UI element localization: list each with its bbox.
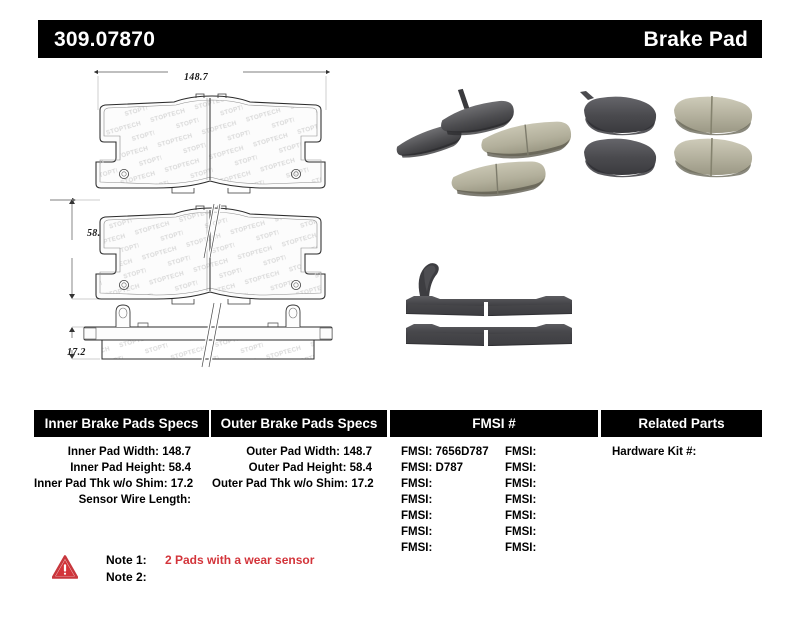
fmsi-row: FMSI: — [393, 524, 497, 540]
brake-pad-set-flat-photo — [578, 90, 758, 190]
fmsi-row: FMSI: — [497, 540, 601, 556]
product-photos — [388, 62, 764, 387]
fmsi-label: FMSI: — [401, 446, 432, 458]
fmsi-label: FMSI: — [401, 542, 432, 554]
column-inner-specs: Inner Pad Width: 148.7 Inner Pad Height:… — [34, 444, 209, 556]
fmsi-label: FMSI: — [401, 526, 432, 538]
fmsi-sub-column-left: FMSI: 7656D787 FMSI: D787 FMSI: FMSI: — [393, 444, 497, 556]
note-value: 2 Pads with a wear sensor — [158, 552, 314, 569]
fmsi-row: FMSI: — [497, 476, 601, 492]
spec-row: Inner Pad Width: 148.7 — [34, 444, 209, 460]
related-part-row: Hardware Kit #: — [604, 444, 762, 460]
fmsi-label: FMSI: — [505, 446, 536, 458]
fmsi-row: FMSI: — [393, 492, 497, 508]
fmsi-row: FMSI: — [393, 476, 497, 492]
fmsi-row: FMSI: — [497, 460, 601, 476]
column-outer-specs: Outer Pad Width: 148.7 Outer Pad Height:… — [212, 444, 390, 556]
spec-table: Inner Brake Pads Specs Outer Brake Pads … — [34, 410, 762, 556]
spec-value: 148.7 — [343, 446, 372, 458]
technical-drawings: 148.7 58.4 17.2 STOPTECH STOPTECH — [38, 62, 383, 387]
column-header-inner-specs: Inner Brake Pads Specs — [34, 410, 211, 437]
column-related-parts: Hardware Kit #: — [604, 444, 762, 556]
spec-row: Outer Pad Height: 58.4 — [212, 460, 390, 476]
column-header-outer-specs: Outer Brake Pads Specs — [211, 410, 387, 437]
fmsi-label: FMSI: — [505, 462, 536, 474]
note-row: Note 1: 2 Pads with a wear sensor — [106, 552, 314, 569]
page-title: Brake Pad — [643, 29, 748, 50]
table-header-group-specs: Inner Brake Pads Specs Outer Brake Pads … — [34, 410, 387, 437]
spec-label: Outer Pad Height: — [249, 462, 347, 474]
note-label: Note 2: — [106, 569, 158, 586]
fmsi-label: FMSI: — [401, 510, 432, 522]
spec-label: Outer Pad Thk w/o Shim: — [212, 478, 348, 490]
table-header-row: Inner Brake Pads Specs Outer Brake Pads … — [34, 410, 762, 437]
column-header-fmsi: FMSI # — [390, 410, 598, 437]
fmsi-label: FMSI: — [401, 494, 432, 506]
note-rows: Note 1: 2 Pads with a wear sensor Note 2… — [106, 552, 314, 586]
fmsi-row: FMSI: — [497, 508, 601, 524]
spec-row: Outer Pad Thk w/o Shim: 17.2 — [212, 476, 390, 492]
column-header-related-parts: Related Parts — [601, 410, 762, 437]
fmsi-row: FMSI: — [497, 492, 601, 508]
spec-value: 17.2 — [351, 478, 373, 490]
spec-sheet: 309.07870 Brake Pad 148.7 58.4 17.2 STOP… — [0, 0, 800, 619]
fmsi-label: FMSI: — [401, 478, 432, 490]
note-row: Note 2: — [106, 569, 314, 586]
fmsi-label: FMSI: — [401, 462, 432, 474]
fmsi-row: FMSI: — [497, 524, 601, 540]
fmsi-row: FMSI: — [497, 444, 601, 460]
fmsi-row: FMSI: 7656D787 — [393, 444, 497, 460]
spec-label: Inner Pad Height: — [70, 462, 165, 474]
column-fmsi: FMSI: 7656D787 FMSI: D787 FMSI: FMSI: — [393, 444, 601, 556]
fmsi-row: FMSI: — [393, 508, 497, 524]
fmsi-value: 7656D787 — [436, 446, 489, 458]
spec-value: 58.4 — [350, 462, 372, 474]
notes-section: Note 1: 2 Pads with a wear sensor Note 2… — [52, 552, 314, 586]
spec-label: Outer Pad Width: — [246, 446, 340, 458]
fmsi-row: FMSI: D787 — [393, 460, 497, 476]
related-part-label: Hardware Kit #: — [612, 446, 696, 458]
fmsi-label: FMSI: — [505, 510, 536, 522]
spec-value: 17.2 — [171, 478, 193, 490]
part-number: 309.07870 — [54, 29, 155, 50]
table-body: Inner Pad Width: 148.7 Inner Pad Height:… — [34, 437, 762, 556]
fmsi-label: FMSI: — [505, 542, 536, 554]
note-label: Note 1: — [106, 552, 158, 569]
brake-pad-line-drawings: STOPTECH STOPTECH — [38, 62, 383, 387]
fmsi-sub-column-right: FMSI: FMSI: FMSI: FMSI: — [497, 444, 601, 556]
spec-value: 148.7 — [162, 446, 191, 458]
fmsi-row: FMSI: — [393, 540, 497, 556]
brake-pad-edge-with-wear-sensor-photo — [396, 252, 576, 367]
spec-row: Sensor Wire Length: — [34, 492, 209, 508]
spec-row: Outer Pad Width: 148.7 — [212, 444, 390, 460]
brake-pad-set-angled-photo — [392, 87, 572, 197]
spec-value: 58.4 — [169, 462, 191, 474]
spec-label: Sensor Wire Length: — [79, 494, 191, 506]
spec-label: Inner Pad Width: — [68, 446, 159, 458]
fmsi-label: FMSI: — [505, 494, 536, 506]
spec-row: Inner Pad Height: 58.4 — [34, 460, 209, 476]
header-bar: 309.07870 Brake Pad — [38, 20, 762, 58]
fmsi-value: D787 — [436, 462, 464, 474]
fmsi-label: FMSI: — [505, 478, 536, 490]
spec-label: Inner Pad Thk w/o Shim: — [34, 478, 168, 490]
warning-triangle-icon — [52, 555, 78, 579]
fmsi-label: FMSI: — [505, 526, 536, 538]
spec-row: Inner Pad Thk w/o Shim: 17.2 — [34, 476, 209, 492]
